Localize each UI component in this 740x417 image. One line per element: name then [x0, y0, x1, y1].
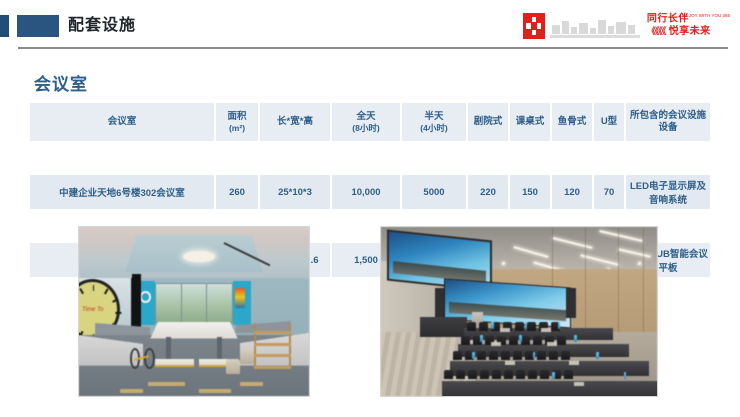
seating-row [442, 381, 658, 397]
column-header-area: 面积 (m²) [215, 103, 259, 141]
cell-area: 260 [215, 175, 259, 209]
wooden-shelf [254, 323, 291, 367]
table-header-row: 会议室 面积 (m²) 长*宽*高 全天 (8小时) 半天 (4小时) [30, 103, 710, 141]
section-title: 会议室 [34, 70, 88, 95]
brand-logo: 同行长伴JOY WITH YOU 365 《《《《 悦享未来 [523, 12, 730, 40]
column-header-full-day: 全天 (8小时) [331, 103, 401, 141]
stool-a [240, 349, 254, 364]
column-header-facilities: 所包含的会议设施设备 [625, 103, 710, 141]
chair-group [453, 351, 570, 360]
bench-front-left [155, 359, 194, 367]
skyline-graphic-icon [550, 14, 640, 38]
wall-artwork [235, 288, 244, 308]
conference-table [150, 322, 237, 339]
brand-tagline-line1: 同行长伴 [647, 14, 689, 25]
column-header-ushape: U型 [593, 103, 625, 141]
cell-classroom: 150 [509, 175, 551, 209]
photo-meeting-lounge: Time To [78, 226, 310, 397]
table-row: 中建企业天地6号楼302会议室 260 25*10*3 10,000 5000 … [30, 175, 710, 209]
header-accent-bar-small [0, 15, 9, 37]
cell-theater: 220 [467, 175, 509, 209]
cell-full-day: 10,000 [331, 175, 401, 209]
column-header-half-day: 半天 (4小时) [401, 103, 467, 141]
stool-b [226, 359, 240, 374]
column-header-room: 会议室 [30, 103, 215, 141]
brand-tagline-sub: JOY WITH YOU 365 [689, 13, 730, 18]
column-header-theater: 剧院式 [467, 103, 509, 141]
cell-dimensions: 25*10*3 [259, 175, 331, 209]
column-header-dimensions: 长*宽*高 [259, 103, 331, 141]
bicycle-decor-icon [130, 340, 155, 369]
head-table [420, 317, 467, 337]
cell-half-day: 5000 [401, 175, 467, 209]
cell-ushape: 70 [593, 175, 625, 209]
window-wall [155, 283, 233, 324]
column-header-fishbone: 鱼骨式 [551, 103, 593, 141]
cell-room-name: 中建企业天地6号楼302会议室 [30, 175, 215, 209]
header-accent-bar-large [17, 15, 59, 37]
column-header-classroom: 课桌式 [509, 103, 551, 141]
page-header: 配套设施 同行长伴JOY WITH YOU 365 [0, 0, 740, 52]
brand-seal-icon [523, 13, 545, 39]
brand-tagline-line2: 悦享未来 [669, 26, 711, 37]
brand-tagline: 同行长伴JOY WITH YOU 365 《《《《 悦享未来 [645, 14, 730, 37]
table-row-separator [30, 141, 710, 175]
chevron-left-icon: 《《《《 [647, 26, 666, 36]
header-divider [18, 47, 728, 49]
cell-facilities: LED电子显示屏及音响系统 [625, 175, 710, 209]
cell-fishbone: 120 [551, 175, 593, 209]
photo-conference-hall [380, 226, 658, 397]
page-title: 配套设施 [68, 15, 136, 37]
